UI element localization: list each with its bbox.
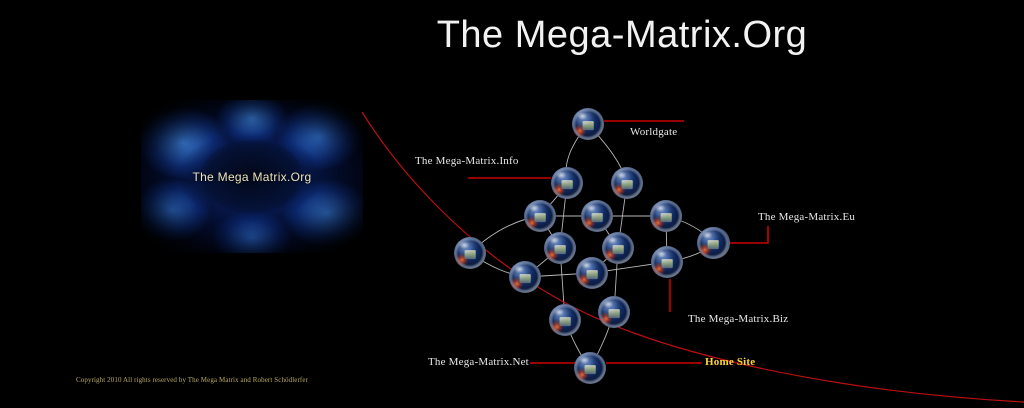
network-node[interactable] — [509, 261, 541, 293]
sphere-specular-icon — [586, 204, 597, 212]
network-node[interactable] — [572, 108, 604, 140]
sphere-specular-icon — [556, 171, 567, 179]
network-node[interactable] — [650, 200, 682, 232]
network-node[interactable] — [544, 232, 576, 264]
node-label-biz: The Mega-Matrix.Biz — [688, 313, 788, 325]
sphere-rim-light — [581, 200, 613, 232]
copyright-notice: Copyright 2010 All rights reserved by Th… — [76, 376, 308, 384]
node-label-net: The Mega-Matrix.Net — [428, 356, 529, 368]
network-node[interactable] — [697, 227, 729, 259]
connector-eu — [730, 226, 768, 243]
sphere-rim-light — [611, 167, 643, 199]
sphere-specular-icon — [607, 236, 618, 244]
sphere-rim-light — [574, 352, 606, 384]
network-node[interactable] — [551, 167, 583, 199]
sphere-specular-icon — [656, 250, 667, 258]
sphere-specular-icon — [579, 356, 590, 364]
sphere-specular-icon — [549, 236, 560, 244]
sphere-specular-icon — [577, 112, 588, 120]
sphere-rim-light — [572, 108, 604, 140]
sphere-rim-light — [651, 246, 683, 278]
node-label-info: The Mega-Matrix.Info — [415, 155, 519, 167]
slide-canvas: The Mega-Matrix.Org The Mega Matrix.Org — [0, 0, 1024, 408]
network-node[interactable] — [576, 257, 608, 289]
sphere-rim-light — [650, 200, 682, 232]
sphere-specular-icon — [616, 171, 627, 179]
node-label-worldgate: Worldgate — [630, 126, 677, 138]
sphere-specular-icon — [514, 265, 525, 273]
network-node[interactable] — [598, 296, 630, 328]
sphere-specular-icon — [554, 308, 565, 316]
sphere-specular-icon — [655, 204, 666, 212]
network-node[interactable] — [602, 232, 634, 264]
sphere-specular-icon — [529, 204, 540, 212]
sphere-rim-light — [598, 296, 630, 328]
sphere-rim-light — [544, 232, 576, 264]
network-node[interactable] — [524, 200, 556, 232]
node-label-home-site: Home Site — [705, 356, 755, 368]
node-label-eu: The Mega-Matrix.Eu — [758, 211, 855, 223]
network-node[interactable] — [574, 352, 606, 384]
sphere-rim-light — [509, 261, 541, 293]
sphere-rim-light — [602, 232, 634, 264]
network-node[interactable] — [651, 246, 683, 278]
network-node[interactable] — [581, 200, 613, 232]
network-node[interactable] — [611, 167, 643, 199]
sphere-specular-icon — [702, 231, 713, 239]
sphere-rim-light — [576, 257, 608, 289]
network-node[interactable] — [454, 237, 486, 269]
sphere-specular-icon — [459, 241, 470, 249]
network-node[interactable] — [549, 304, 581, 336]
sphere-rim-light — [697, 227, 729, 259]
sphere-rim-light — [551, 167, 583, 199]
sphere-specular-icon — [581, 261, 592, 269]
sphere-rim-light — [524, 200, 556, 232]
sphere-rim-light — [549, 304, 581, 336]
sphere-specular-icon — [603, 300, 614, 308]
sphere-rim-light — [454, 237, 486, 269]
network-nodes — [454, 108, 730, 384]
node-network-diagram — [0, 0, 1024, 408]
